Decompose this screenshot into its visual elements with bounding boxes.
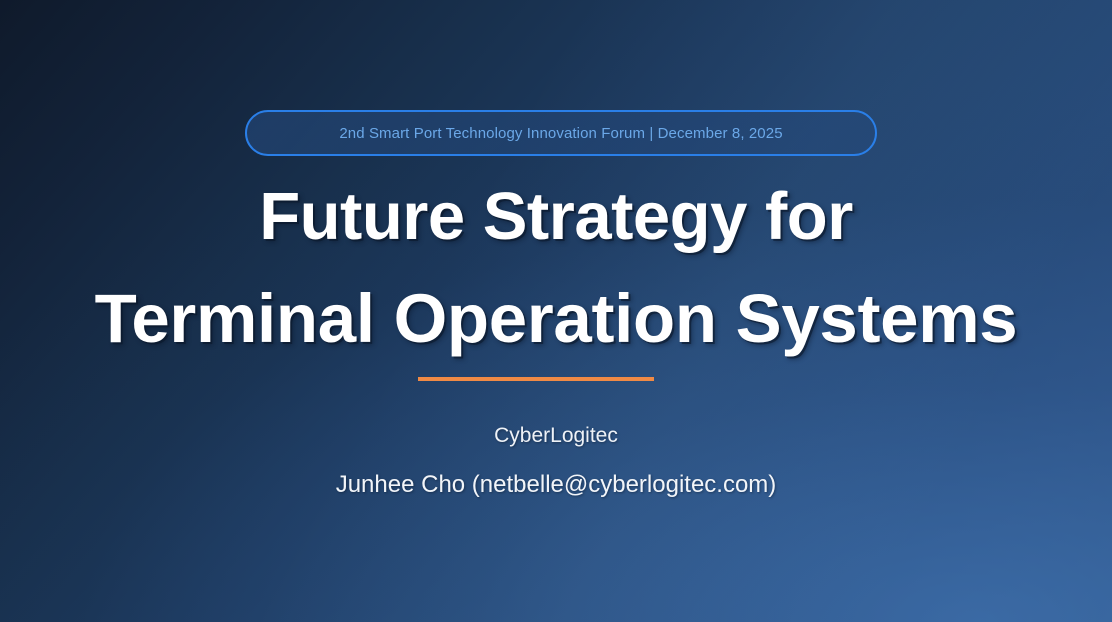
slide-content: 2nd Smart Port Technology Innovation For… bbox=[0, 0, 1112, 622]
accent-divider bbox=[418, 377, 654, 381]
slide-title-line-2: Terminal Operation Systems bbox=[0, 268, 1112, 370]
title-slide: 2nd Smart Port Technology Innovation For… bbox=[0, 0, 1112, 622]
slide-title: Future Strategy for Terminal Operation S… bbox=[0, 166, 1112, 370]
presenter-info: Junhee Cho (netbelle@cyberlogitec.com) bbox=[0, 471, 1112, 499]
slide-title-line-1: Future Strategy for bbox=[0, 166, 1112, 268]
organization-name: CyberLogitec bbox=[0, 424, 1112, 448]
event-badge: 2nd Smart Port Technology Innovation For… bbox=[245, 110, 877, 156]
event-badge-label: 2nd Smart Port Technology Innovation For… bbox=[339, 125, 782, 142]
